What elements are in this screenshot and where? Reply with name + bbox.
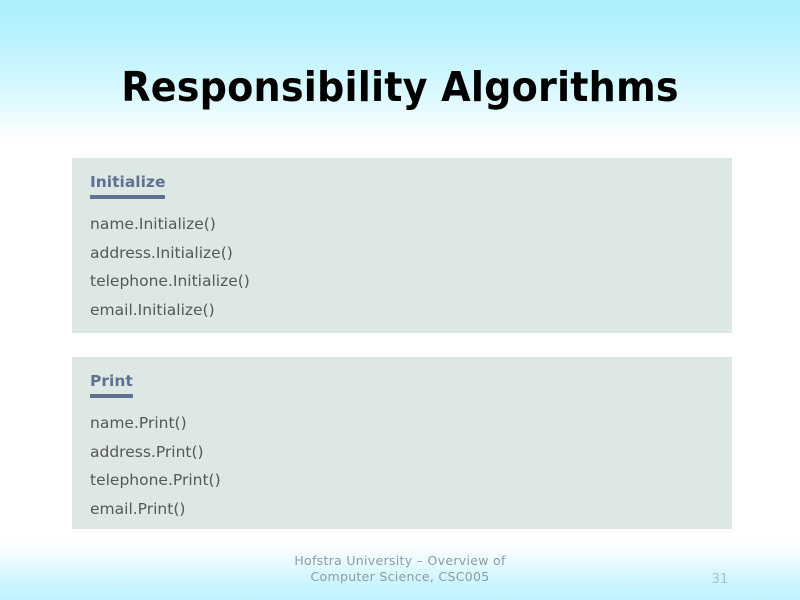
algorithm-line: name.Print() [90, 409, 732, 438]
slide-footer: Hofstra University – Overview of Compute… [0, 553, 800, 585]
algorithm-block-initialize: Initialize name.Initialize() address.Ini… [72, 158, 732, 333]
algorithm-block-print: Print name.Print() address.Print() telep… [72, 357, 732, 529]
algorithm-line: name.Initialize() [90, 210, 732, 239]
algorithm-line: telephone.Print() [90, 466, 732, 495]
slide-canvas: Responsibility Algorithms Initialize nam… [0, 0, 800, 600]
page-number: 31 [700, 572, 740, 587]
algorithm-line: address.Print() [90, 438, 732, 467]
algorithm-line-list: name.Print() address.Print() telephone.P… [82, 409, 732, 524]
footer-line-secondary: Computer Science, CSC005 [0, 569, 800, 585]
algorithm-line-list: name.Initialize() address.Initialize() t… [82, 210, 732, 325]
algorithm-line: email.Initialize() [90, 296, 732, 325]
algorithm-heading: Print [90, 373, 133, 398]
footer-line-primary: Hofstra University – Overview of [0, 553, 800, 569]
algorithm-heading: Initialize [90, 174, 165, 199]
algorithm-line: telephone.Initialize() [90, 267, 732, 296]
page-title: Responsibility Algorithms [28, 65, 772, 110]
algorithm-line: email.Print() [90, 495, 732, 524]
algorithm-line: address.Initialize() [90, 239, 732, 268]
